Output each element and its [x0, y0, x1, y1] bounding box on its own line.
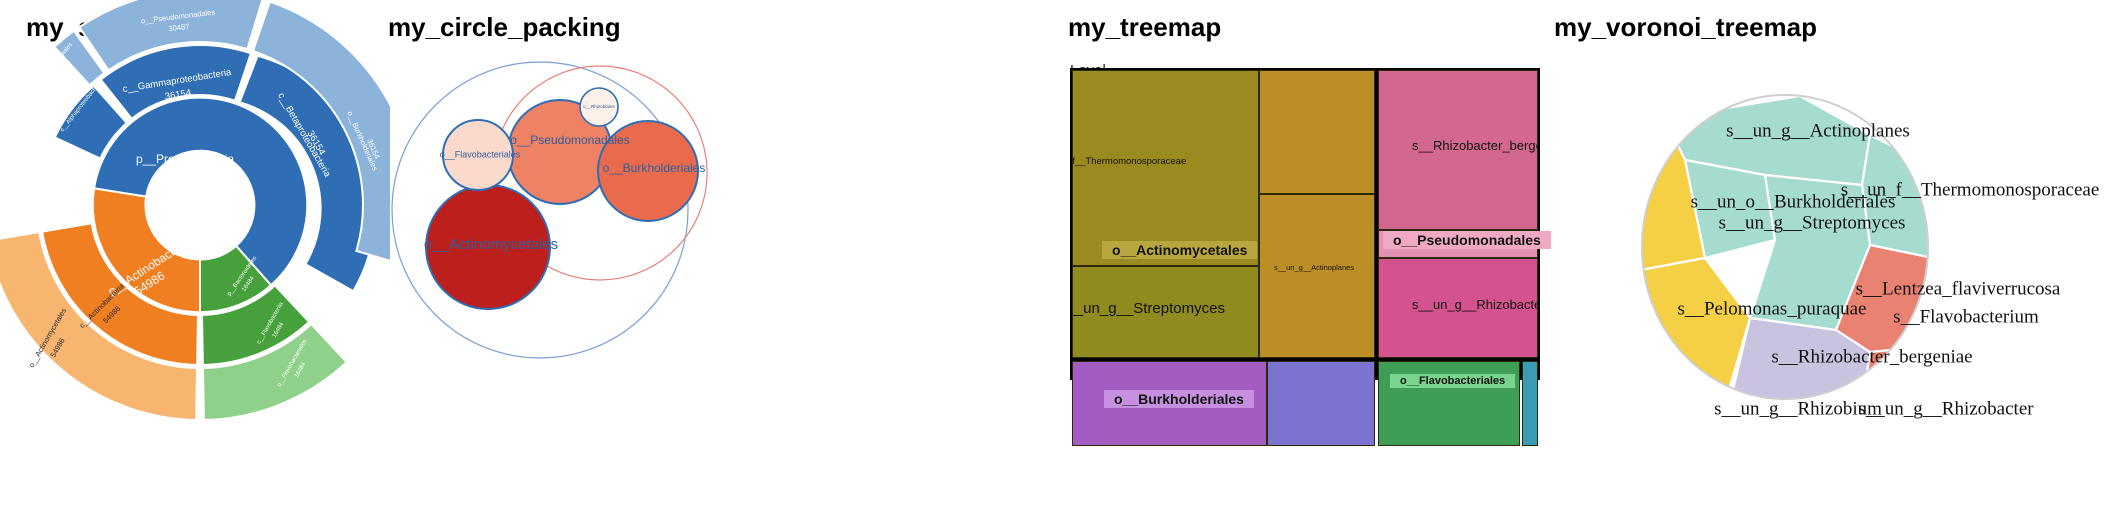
figure-canvas: my_sunburst: [0, 0, 2114, 512]
panel-sunburst: my_sunburst: [0, 0, 390, 512]
circle-label-pseudomonadales: o__Pseudomonadales: [510, 133, 629, 147]
circle-packing-plot: o__Actinomycetales o__Pseudomonadales o_…: [380, 0, 1060, 512]
voronoi-region-pelomonas-puraquae[interactable]: [1630, 258, 1750, 420]
treemap-cell-thermomonosporaceae[interactable]: s__un_f__Thermomonosporaceae: [1072, 70, 1259, 266]
panel-circle-packing: my_circle_packing o__Actinomycetales o__…: [380, 0, 1060, 512]
voronoi-label-un-o-burkholderiales: s__un_o__Burkholderiales: [1691, 191, 1896, 212]
treemap-label-streptomyces: s__un_g__Streptomyces: [1072, 300, 1225, 317]
voronoi-label-flavobacterium: s__Flavobacterium: [1893, 306, 2039, 327]
treemap-label-rhizobacter-bergeniae: s__Rhizobacter_bergeniae: [1412, 138, 1538, 153]
treemap-cell-un-g-rhizobacter[interactable]: s__un_g__Rhizobacter: [1378, 258, 1538, 358]
circle-label-flavobacteriales: o__Flavobacteriales: [440, 149, 521, 159]
voronoi-label-pelomonas-puraquae: s__Pelomonas_puraquae: [1678, 298, 1867, 319]
treemap-label-actinomycetales: o__Actinomycetales: [1102, 241, 1257, 259]
voronoi-region-un-g-rhizobium[interactable]: [1635, 410, 1725, 450]
circle-label-burkholderiales: o__Burkholderiales: [603, 161, 706, 175]
treemap-cell-rhizobacter-bergeniae[interactable]: s__Rhizobacter_bergeniae: [1378, 70, 1538, 230]
voronoi-plot: s__un_g__Actinoplanes s__un_f__Thermomon…: [1540, 0, 2114, 512]
voronoi-label-un-g-rhizobium: s__un_g__Rhizobium: [1714, 398, 1882, 419]
circle-label-rhizobiales: o__Rhizobiales: [583, 104, 615, 109]
treemap-label-burkholderiales: o__Burkholderiales: [1104, 390, 1254, 408]
treemap-cell-burkholderiales-b[interactable]: [1267, 361, 1375, 446]
treemap-title: my_treemap: [1068, 12, 1221, 43]
circle-label-actinomycetales: o__Actinomycetales: [424, 236, 558, 253]
treemap-label-actinoplanes: s__un_g__Actinoplanes: [1274, 263, 1354, 272]
sunburst-label-p-proteobacteria: p__Proteobacteria: [136, 152, 234, 166]
panel-voronoi-treemap: my_voronoi_treemap: [1540, 0, 2114, 512]
treemap-plot: s__un_f__Thermomonosporaceae s__un_g__St…: [1070, 68, 1540, 380]
treemap-cell-sliver[interactable]: [1522, 361, 1538, 446]
voronoi-label-un-g-rhizobacter: s__un_g__Rhizobacter: [1858, 398, 2034, 419]
treemap-cell-streptomyces[interactable]: s__un_g__Streptomyces: [1072, 266, 1259, 358]
treemap-cell-actinoplanes-top[interactable]: [1259, 70, 1375, 194]
sunburst-plot: p__Proteobacteria 74430 p__Actinobacteri…: [0, 0, 390, 512]
sunburst-value-p-proteobacteria: 74430: [168, 169, 202, 183]
panel-treemap: my_treemap s__un_f__Thermomonosporaceae …: [1060, 0, 1540, 512]
treemap-label-un-g-rhizobacter: s__un_g__Rhizobacter: [1412, 297, 1538, 312]
voronoi-label-streptomyces: s__un_g__Streptomyces: [1719, 212, 1906, 233]
treemap-label-flavobacteriales: o__Flavobacteriales: [1390, 374, 1515, 388]
voronoi-label-lentzea-flaviverrucosa: s__Lentzea_flaviverrucosa: [1856, 278, 2061, 299]
treemap-cell-actinoplanes[interactable]: s__un_g__Actinoplanes: [1259, 194, 1375, 358]
voronoi-label-actinoplanes: s__un_g__Actinoplanes: [1726, 120, 1910, 141]
treemap-label-thermomonosporaceae: s__un_f__Thermomonosporaceae: [1072, 156, 1186, 167]
treemap-label-pseudomonadales: o__Pseudomonadales: [1383, 231, 1551, 249]
voronoi-label-rhizobacter-bergeniae: s__Rhizobacter_bergeniae: [1771, 346, 1972, 367]
